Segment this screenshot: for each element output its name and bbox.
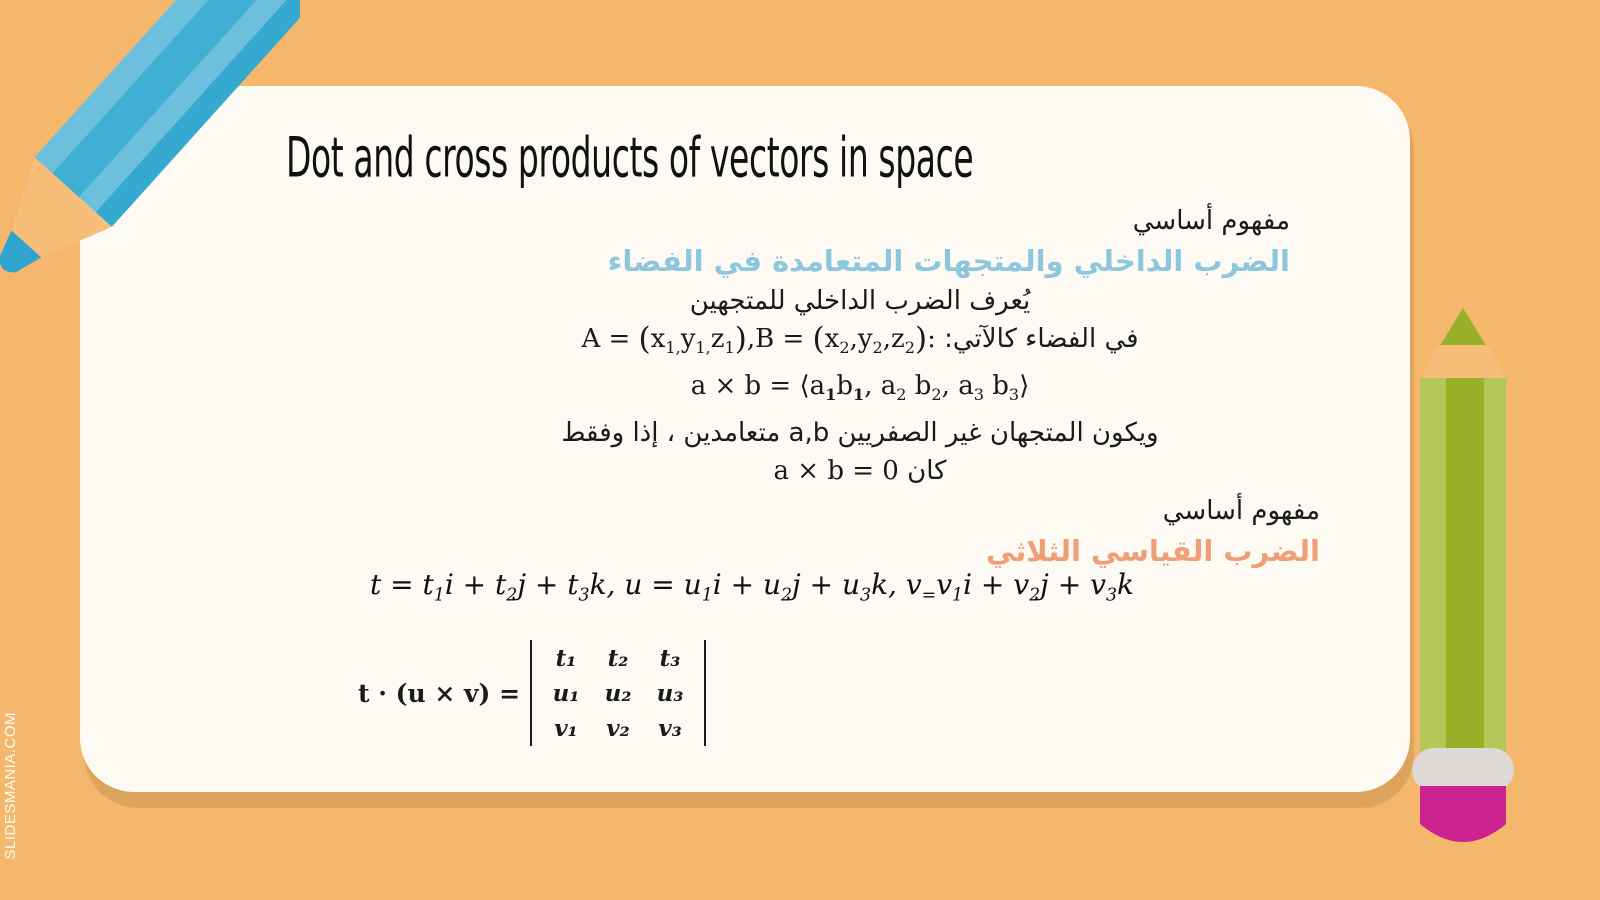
section-one-line5-arabic: كان (907, 456, 946, 486)
determinant-grid: t₁ t₂ t₃ u₁ u₂ u₃ v₁ v₂ v₃ (532, 641, 704, 746)
det-cell: t₁ (556, 645, 577, 672)
section-one-line2-math: A = (x1,y1,z1),B = (x2,y2,z2): (581, 320, 935, 367)
det-cell: v₃ (658, 715, 681, 742)
section-one-line3: a × b = ⟨a1b1, a2 b2, a3 b3⟩ (430, 367, 1290, 414)
det-cell: v₂ (606, 715, 629, 742)
section-one-eyebrow: مفهوم أساسي (430, 202, 1290, 240)
section-one-line2: في الفضاء كالآتي: A = (x1,y1,z1),B = (x2… (430, 320, 1290, 367)
det-cell: v₁ (554, 715, 577, 742)
triple-product-determinant: t · (u × v) = t₁ t₂ t₃ u₁ u₂ u₃ v₁ v₂ v₃ (358, 640, 706, 746)
page-title: Dot and cross products of vectors in spa… (286, 126, 1082, 191)
section-one-line5: كان a × b = 0 (430, 452, 1290, 490)
det-cell: u₂ (605, 680, 632, 707)
det-cell: t₃ (660, 645, 681, 672)
determinant-right-bar (704, 640, 706, 746)
slidesmania-watermark: SLIDESMANIA.COM (2, 712, 19, 860)
orthogonality-condition: a × b = 0 (774, 452, 899, 490)
det-cell: u₃ (657, 680, 684, 707)
section-one-line1: يُعرف الضرب الداخلي للمتجهين (430, 282, 1290, 320)
det-cell: t₂ (608, 645, 629, 672)
determinant-lhs: t · (u × v) = (358, 679, 520, 708)
section-one-line4: ويكون المتجهان غير الصفريين a,b متعامدين… (430, 414, 1290, 452)
section-one: مفهوم أساسي الضرب الداخلي والمتجهات المت… (430, 202, 1290, 490)
slide-canvas: Dot and cross products of vectors in spa… (0, 0, 1600, 900)
section-two-eyebrow: مفهوم أساسي (430, 492, 1320, 530)
section-two-heading: الضرب القياسي الثلاثي (430, 530, 1320, 572)
section-two: مفهوم أساسي الضرب القياسي الثلاثي (430, 492, 1320, 572)
vector-components-equation: t = t1i + t2j + t3k, u = u1i + u2j + u3k… (370, 568, 1134, 606)
green-pencil-icon (1398, 300, 1528, 860)
cross-product-formula: a × b = ⟨a1b1, a2 b2, a3 b3⟩ (691, 367, 1030, 414)
det-cell: u₁ (553, 680, 580, 707)
section-one-heading: الضرب الداخلي والمتجهات المتعامدة في الف… (430, 240, 1290, 282)
section-one-line2-arabic: في الفضاء كالآتي: (944, 324, 1138, 354)
